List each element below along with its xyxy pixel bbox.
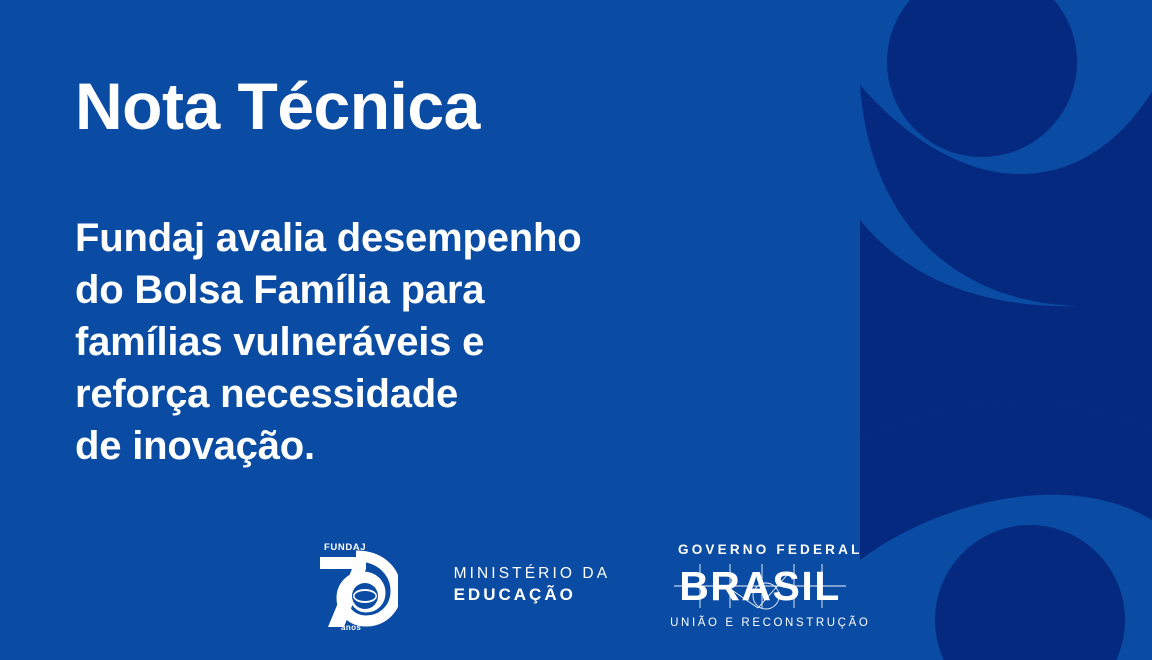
subtitle-line: famílias vulneráveis e (75, 316, 581, 368)
subtitle: Fundaj avalia desempenho do Bolsa Famíli… (75, 212, 581, 472)
subtitle-line: de inovação. (75, 420, 581, 472)
person-body-wedge (860, 220, 1152, 440)
person-head-upper (887, 0, 1077, 157)
brasil-wordmark-block: GOVERNO FEDERAL BRA (670, 542, 870, 629)
page-title: Nota Técnica (75, 72, 480, 141)
subtitle-line: Fundaj avalia desempenho (75, 212, 581, 264)
brasil-wordmark-icon: BRASIL (670, 562, 850, 610)
subtitle-line: do Bolsa Família para (75, 264, 581, 316)
nota-tecnica-banner: Nota Técnica Fundaj avalia desempenho do… (0, 0, 1152, 660)
logo-strip: FUNDAJ anos MINISTÉRIO DA EDUCAÇÃO GOVER… (0, 530, 1152, 640)
person-body-upper (860, 85, 1152, 306)
mec-wordmark: MINISTÉRIO DA EDUCAÇÃO (454, 564, 611, 607)
ministerio-da-educacao-logo: MINISTÉRIO DA EDUCAÇÃO (454, 564, 671, 607)
uniao-e-reconstrucao-label: UNIÃO E RECONSTRUÇÃO (670, 617, 870, 629)
brasil-letters: BRASIL (679, 563, 841, 609)
subtitle-line: reforça necessidade (75, 368, 581, 420)
fundaj-75-anos-logo: FUNDAJ anos (312, 539, 454, 631)
governo-federal-label: GOVERNO FEDERAL (670, 542, 870, 557)
fundaj-anos-label: anos (341, 623, 361, 631)
mec-line-educacao: EDUCAÇÃO (454, 584, 611, 606)
fundaj-logo-icon: FUNDAJ anos (312, 539, 398, 631)
person-body-mid (860, 220, 1152, 440)
mec-line-ministerio: MINISTÉRIO DA (454, 564, 611, 584)
fundaj-eye-inner (354, 591, 375, 601)
governo-federal-brasil-logo: GOVERNO FEDERAL BRA (670, 542, 870, 629)
